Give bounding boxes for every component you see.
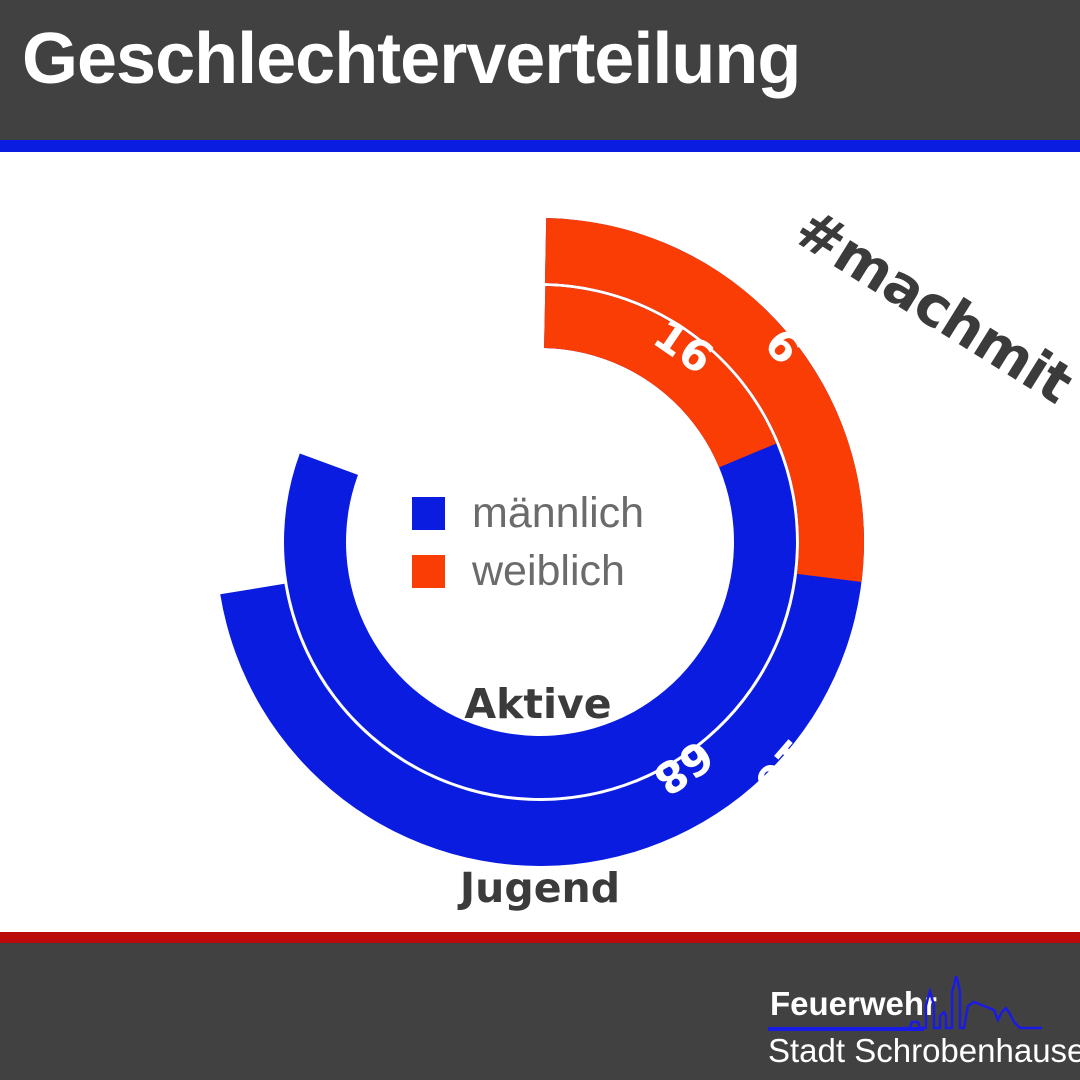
brand-underline [768, 1027, 924, 1031]
brand-logo: Feuerwehr Stadt Schrobenhausen [752, 985, 1042, 1069]
square-swatch-red-icon [412, 555, 445, 588]
ring-caption-aktive: Aktive [464, 680, 611, 728]
legend-item-weiblich[interactable]: weiblich [412, 542, 672, 600]
legend-item-maennlich[interactable]: männlich [412, 484, 672, 542]
brand-name-line2: Stadt Schrobenhausen [768, 1032, 1080, 1070]
ring-caption-jugend: Jugend [457, 864, 620, 912]
city-skyline-icon [902, 976, 1042, 1032]
footer-accent-rule [0, 932, 1080, 943]
square-swatch-blue-icon [412, 497, 445, 530]
legend-label-weiblich: weiblich [472, 547, 625, 596]
chart-legend: männlich weiblich [412, 484, 672, 600]
legend-label-maennlich: männlich [472, 489, 644, 538]
